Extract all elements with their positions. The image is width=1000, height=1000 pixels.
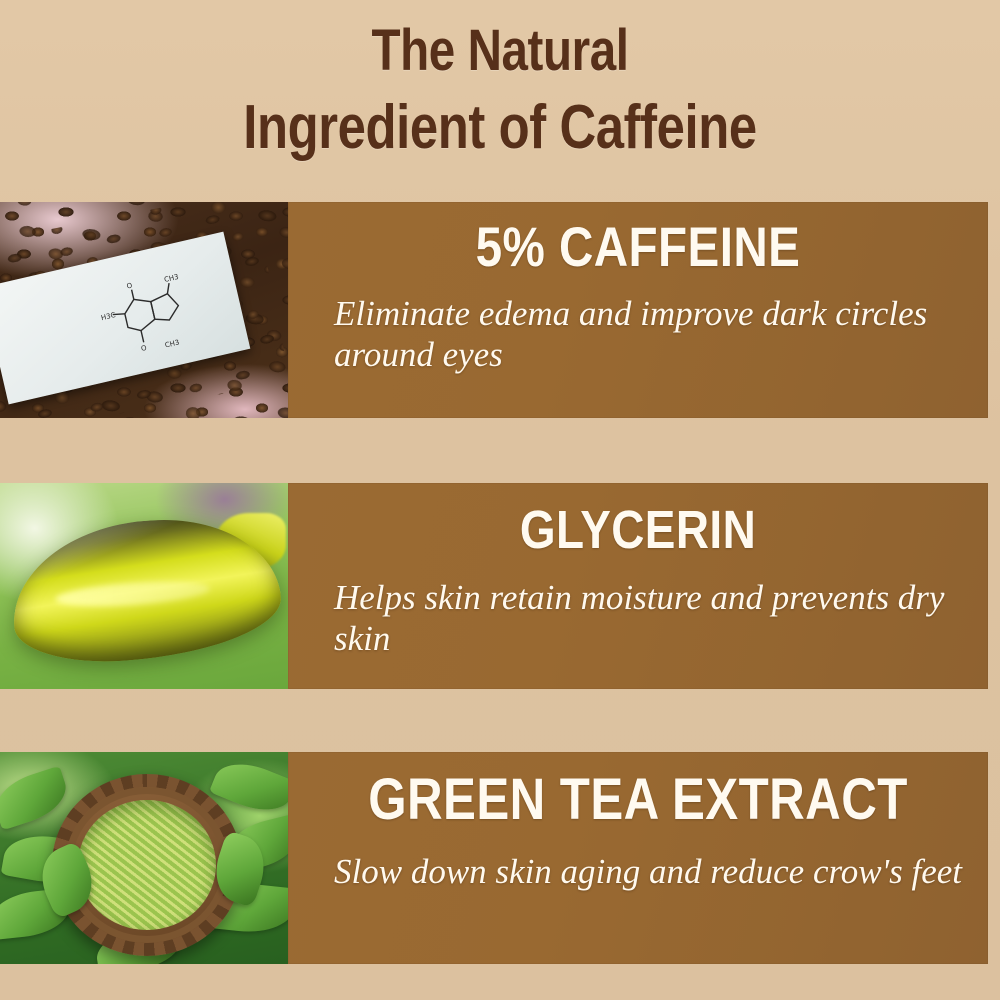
svg-text:H3C: H3C [100, 311, 116, 322]
page-title: The Natural Ingredient of Caffeine [0, 14, 1000, 168]
coffee-beans-photo: O CH3 H3C O CH3 [0, 202, 288, 418]
title-line-2: Ingredient of Caffeine [90, 88, 910, 168]
svg-text:CH3: CH3 [163, 273, 179, 284]
green-tea-text-panel: GREEN TEA EXTRACT Slow down skin aging a… [288, 752, 988, 964]
green-tea-heading: GREEN TEA EXTRACT [341, 766, 936, 833]
caffeine-heading: 5% CAFFEINE [341, 214, 936, 279]
ingredient-row-caffeine: O CH3 H3C O CH3 5% CAFFEINE Eliminate ed… [0, 202, 1000, 418]
glycerin-heading: GLYCERIN [341, 499, 936, 561]
svg-text:CH3: CH3 [164, 338, 180, 349]
tea-leaves-in-basket [78, 800, 216, 930]
glycerin-description: Helps skin retain moisture and prevents … [288, 577, 988, 660]
svg-text:O: O [140, 344, 148, 353]
ingredient-row-green-tea: GREEN TEA EXTRACT Slow down skin aging a… [0, 752, 1000, 964]
ingredient-infographic: The Natural Ingredient of Caffeine [0, 0, 1000, 1000]
glycerin-droplet-photo [0, 483, 288, 689]
caffeine-text-panel: 5% CAFFEINE Eliminate edema and improve … [288, 202, 988, 418]
ingredient-row-glycerin: GLYCERIN Helps skin retain moisture and … [0, 483, 1000, 689]
green-tea-description: Slow down skin aging and reduce crow's f… [288, 851, 988, 892]
title-line-1: The Natural [90, 14, 910, 88]
glycerin-text-panel: GLYCERIN Helps skin retain moisture and … [288, 483, 988, 689]
caffeine-description: Eliminate edema and improve dark circles… [288, 293, 988, 376]
svg-text:O: O [126, 281, 134, 290]
green-tea-basket-photo [0, 752, 288, 964]
